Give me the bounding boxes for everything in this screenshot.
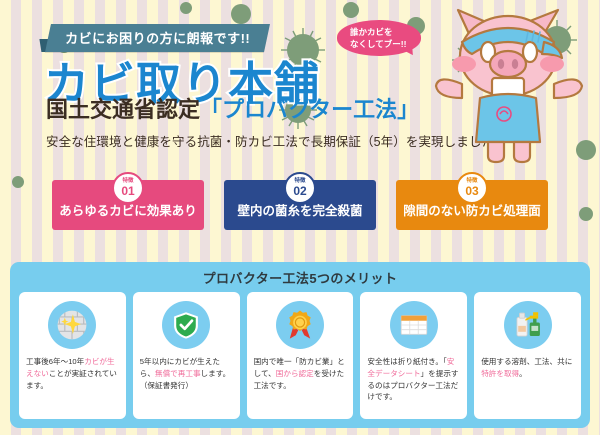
hero-subtitle-certification: 国土交通省認定 [46, 97, 200, 122]
spray-bottle-icon [504, 301, 552, 349]
feature-badges-row: 特徴 01 あらゆるカビに効果あり 特徴 02 壁内の菌糸を完全殺菌 特徴 03… [0, 172, 600, 232]
speech-line-1: 誰かカビを [350, 26, 421, 38]
hero-subtitle: 国土交通省認定「プロバクター工法」 [46, 99, 419, 121]
merit-card-5[interactable]: 使用する溶剤、工法、共に特許を取得。 [474, 292, 581, 419]
feature-badge-number-1: 01 [121, 185, 134, 197]
brick-wall-sparkle-icon [48, 301, 96, 349]
feature-number-badge-3: 特徴 03 [456, 172, 488, 204]
merit-text-5-highlight: 特許を取得 [481, 369, 519, 378]
feature-card-1[interactable]: 特徴 01 あらゆるカビに効果あり [52, 180, 204, 230]
merit-text-1: 工事後6年〜10年カビが生えないことが実証されています。 [26, 356, 119, 391]
merits-card-list: 工事後6年〜10年カビが生えないことが実証されています。 5年以内にカビが生えた… [10, 292, 590, 419]
merit-text-2: 5年以内にカビが生えたら、無償で再工事します。（保証書発行） [140, 356, 233, 391]
merit-text-3: 国内で唯一「防カビ業」として、国から認定を受けた工法です。 [254, 356, 347, 391]
feature-badge-number-2: 02 [293, 185, 306, 197]
merit-card-2[interactable]: 5年以内にカビが生えたら、無償で再工事します。（保証書発行） [133, 292, 240, 419]
feature-card-2[interactable]: 特徴 02 壁内の菌糸を完全殺菌 [224, 180, 376, 230]
merit-text-1-pre: 工事後6年〜10年 [26, 357, 84, 366]
merit-text-4-pre: 安全性は折り紙付き。「 [367, 357, 446, 366]
merit-text-4: 安全性は折り紙付き。「安全データシート」を提示するのはプロバクター工法だけです。 [367, 356, 460, 403]
feature-number-badge-1: 特徴 01 [112, 172, 144, 204]
merit-text-5-post: 。 [519, 369, 527, 378]
merit-card-3[interactable]: 国内で唯一「防カビ業」として、国から認定を受けた工法です。 [247, 292, 354, 419]
speech-line-2: なくしてブー!! [350, 38, 421, 50]
merit-text-3-highlight: 国から認定 [276, 369, 314, 378]
feature-badge-number-3: 03 [465, 185, 478, 197]
merit-text-5-pre: 使用する溶剤、工法、共に [481, 357, 572, 366]
merit-text-2-highlight: 無償で再工事 [155, 369, 201, 378]
mascot-speech-bubble: 誰かカビを なくしてブー!! [337, 20, 421, 56]
merit-text-5: 使用する溶剤、工法、共に特許を取得。 [481, 356, 574, 380]
feature-card-3[interactable]: 特徴 03 隙間のない防カビ処理面 [396, 180, 548, 230]
hero-subtitle-method: 「プロバクター工法」 [200, 97, 419, 122]
merit-card-4[interactable]: 安全性は折り紙付き。「安全データシート」を提示するのはプロバクター工法だけです。 [360, 292, 467, 419]
shield-check-icon [162, 301, 210, 349]
merits-panel: プロバクター工法5つのメリット [10, 262, 590, 428]
hero-ribbon-text: カビにお困りの方に朗報です!! [65, 28, 250, 47]
gold-medal-icon [276, 301, 324, 349]
data-sheet-icon [390, 301, 438, 349]
merits-title: プロバクター工法5つのメリット [10, 262, 590, 292]
merit-card-1[interactable]: 工事後6年〜10年カビが生えないことが実証されています。 [19, 292, 126, 419]
pig-mascot-icon [432, 2, 588, 170]
feature-number-badge-2: 特徴 02 [284, 172, 316, 204]
